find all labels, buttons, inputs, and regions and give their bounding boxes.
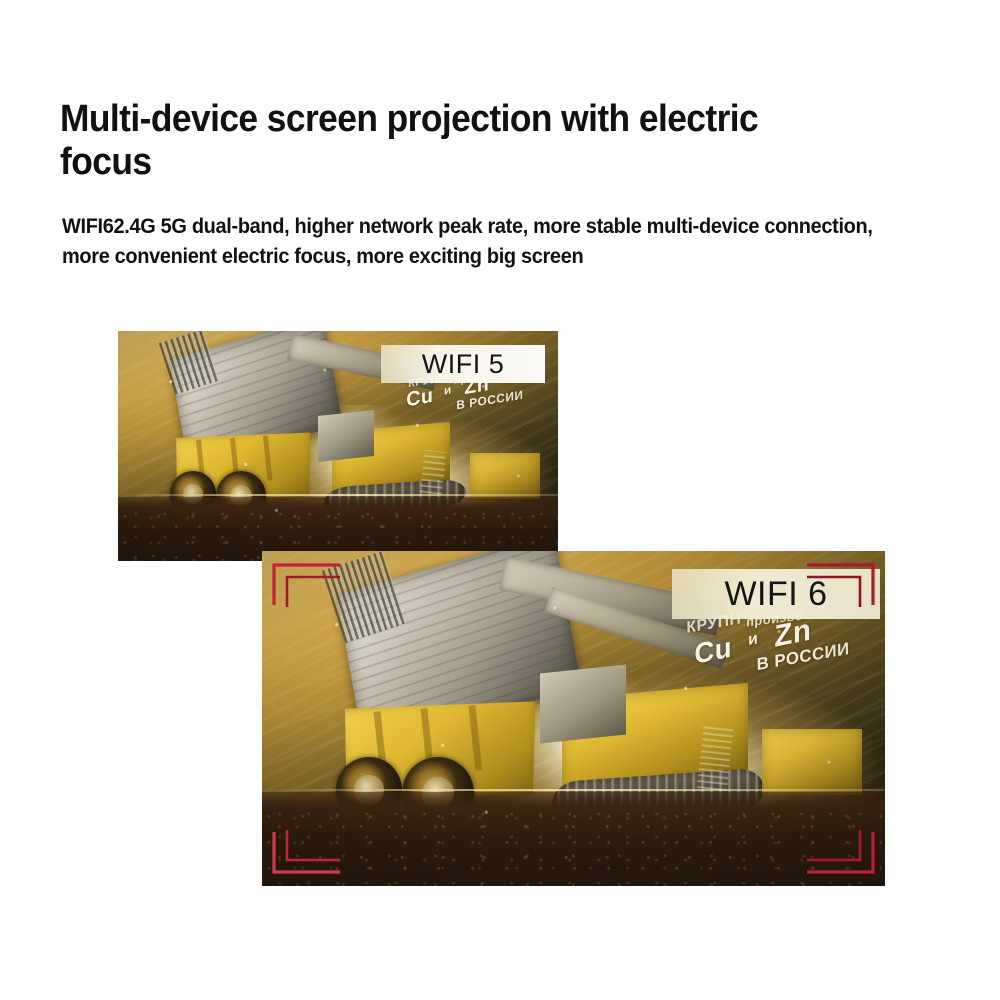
wifi5-label-badge: WIFI 5 xyxy=(381,345,545,383)
product-image-wifi6: КРУПН произво Cu и Zn В РОССИИ WIFI 6 xyxy=(262,551,885,886)
page-subtitle: WIFI62.4G 5G dual-band, higher network p… xyxy=(62,212,908,272)
product-image-wifi5: КРУПН произво Cu и Zn В РОССИИ WIFI 5 xyxy=(118,331,558,561)
page-title: Multi-device screen projection with elec… xyxy=(60,98,832,183)
wifi6-label-badge: WIFI 6 xyxy=(672,569,880,619)
